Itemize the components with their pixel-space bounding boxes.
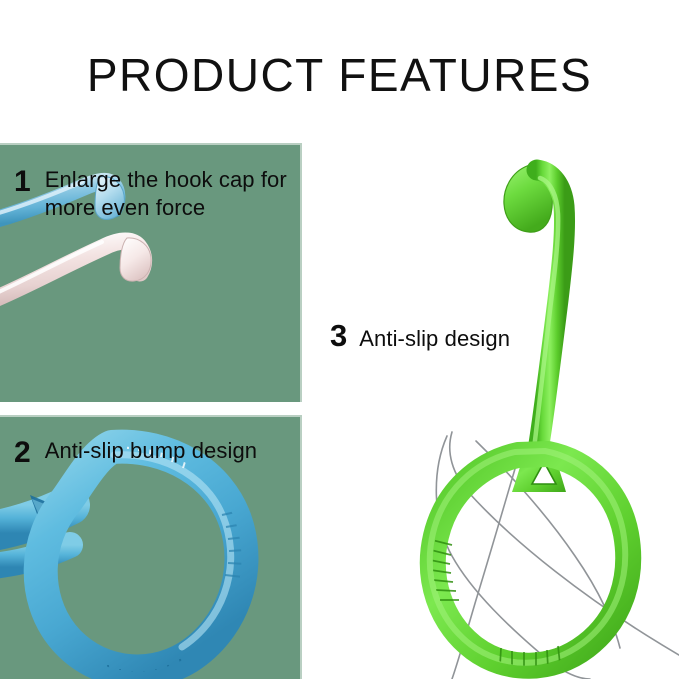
feature-3-caption: 3 Anti-slip design [330, 320, 510, 353]
product-features-infographic: PRODUCT FEATURES [0, 0, 679, 679]
feature-3-text: Anti-slip design [359, 325, 510, 353]
feature-2-number: 2 [14, 437, 31, 469]
feature-3-number: 3 [330, 320, 347, 353]
feature-1-caption: 1 Enlarge the hook cap for more even for… [14, 166, 294, 222]
feature-2-text: Anti-slip bump design [45, 437, 257, 465]
feature-1-number: 1 [14, 166, 31, 198]
feature-2-caption: 2 Anti-slip bump design [14, 437, 294, 469]
feature-1-text: Enlarge the hook cap for more even force [45, 166, 294, 222]
